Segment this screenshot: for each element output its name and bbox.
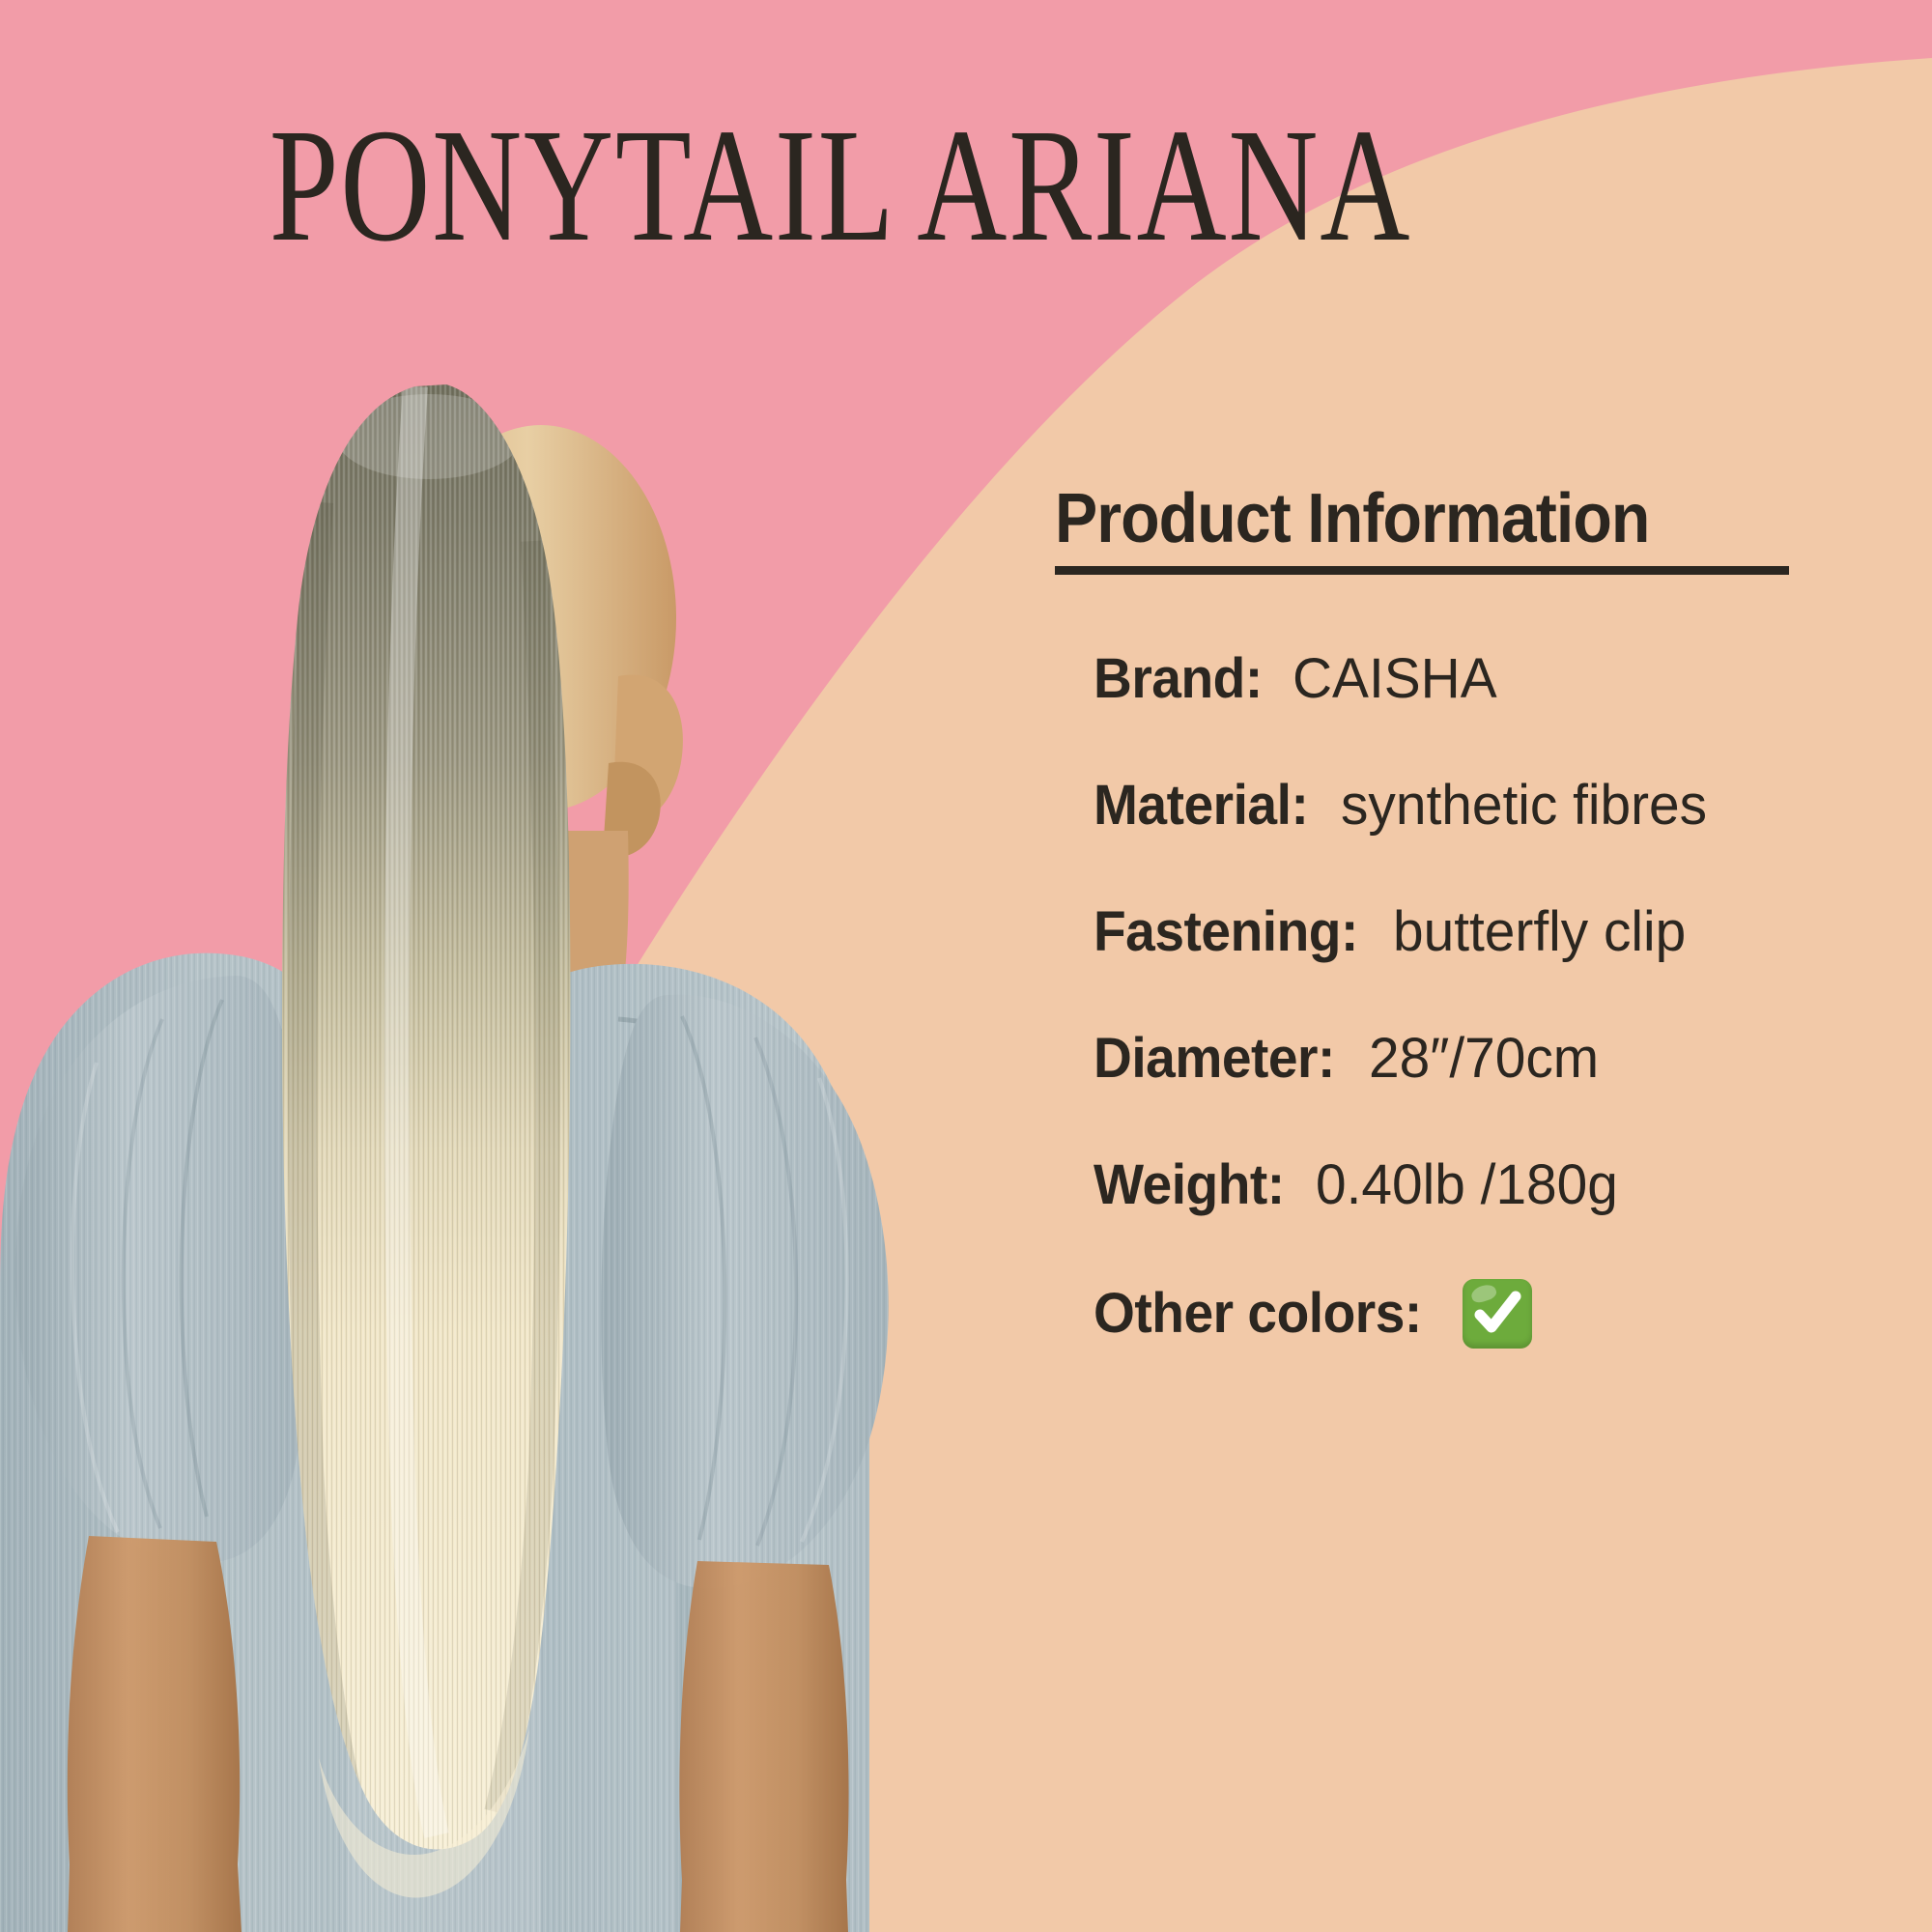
spec-label-other-colors: Other colors: <box>1094 1281 1422 1346</box>
spec-value-fastening: butterfly clip <box>1393 899 1686 964</box>
infographic-canvas: PONYTAIL ARIANA <box>0 0 1932 1932</box>
spec-value-material: synthetic fibres <box>1341 773 1707 838</box>
panel-heading-underline <box>1055 566 1789 575</box>
spec-list: Brand: CAISHA Material: synthetic fibres… <box>1055 646 1905 1349</box>
spec-label-brand: Brand: <box>1094 646 1263 711</box>
spec-value-diameter: 28″/70cm <box>1369 1026 1599 1091</box>
product-photo <box>0 0 1024 1932</box>
product-information-panel: Product Information Brand: CAISHA Materi… <box>1055 483 1905 1410</box>
spec-row-material: Material: synthetic fibres <box>1094 773 1905 838</box>
spec-label-fastening: Fastening: <box>1094 899 1358 964</box>
spec-label-material: Material: <box>1094 773 1308 838</box>
spec-value-brand: CAISHA <box>1293 646 1497 711</box>
spec-label-weight: Weight: <box>1094 1152 1285 1217</box>
spec-label-diameter: Diameter: <box>1094 1026 1335 1091</box>
spec-row-weight: Weight: 0.40lb /180g <box>1094 1152 1905 1217</box>
spec-row-brand: Brand: CAISHA <box>1094 646 1905 711</box>
panel-heading: Product Information <box>1055 483 1837 556</box>
spec-value-weight: 0.40lb /180g <box>1316 1152 1618 1217</box>
spec-row-diameter: Diameter: 28″/70cm <box>1094 1026 1905 1091</box>
spec-row-other-colors: Other colors: <box>1094 1279 1905 1349</box>
spec-row-fastening: Fastening: butterfly clip <box>1094 899 1905 964</box>
check-mark-button-icon <box>1463 1279 1532 1349</box>
